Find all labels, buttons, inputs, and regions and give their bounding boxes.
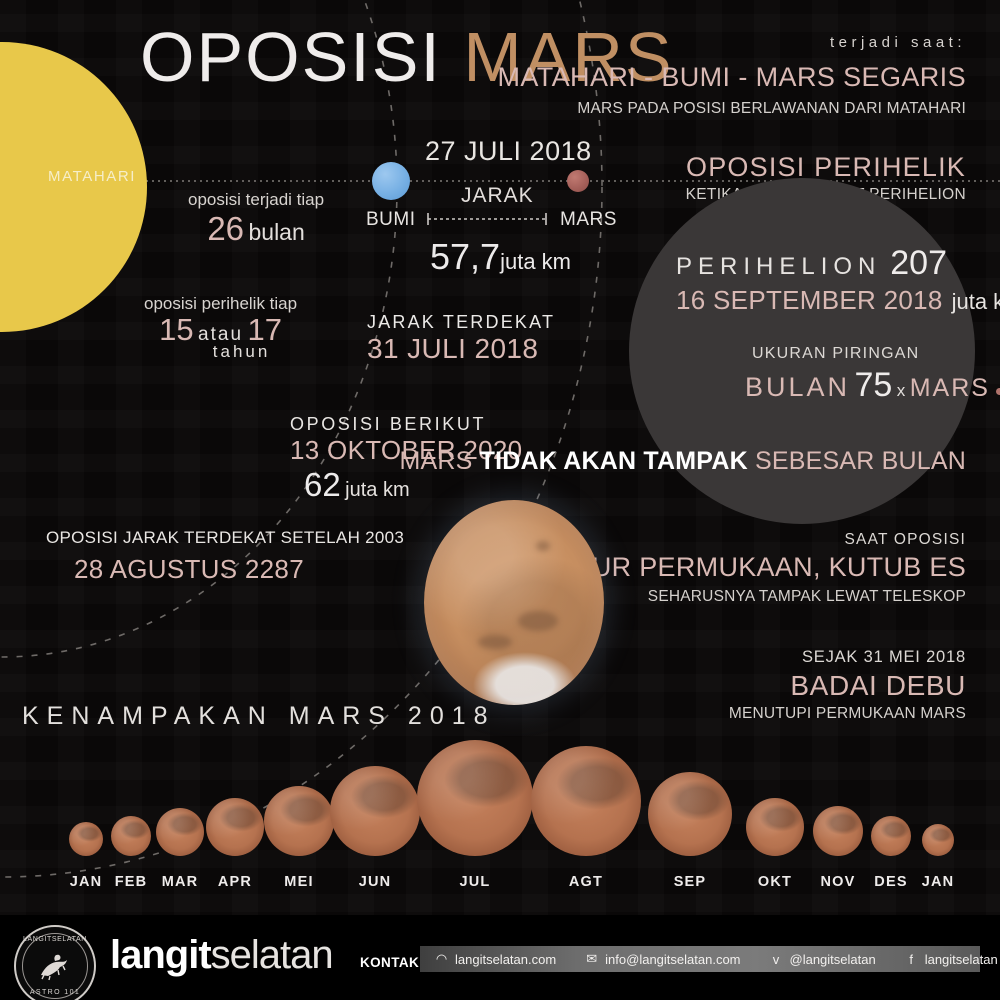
perihelion-label: PERIHELION — [676, 253, 881, 280]
dust-storm-subtext: MENUTUPI PERMUKAAN MARS — [729, 705, 966, 723]
opposition-interval-text: oposisi terjadi tiap — [188, 190, 324, 210]
perihelion-block: PERIHELION 207 16 SEPTEMBER 2018 juta km — [676, 244, 1000, 316]
title-part-oposisi: OPOSISI — [140, 18, 442, 96]
alignment-subtext: MARS PADA POSISI BERLAWANAN DARI MATAHAR… — [577, 100, 966, 118]
disk-size-mars: MARS — [910, 374, 990, 402]
contact-text: info@langitselatan.com — [605, 952, 740, 967]
mars-disk-label: FEB — [115, 874, 148, 890]
next-opposition-heading: OPOSISI BERIKUT — [290, 414, 522, 435]
logo-top-text: LANGITSELATAN — [16, 936, 94, 943]
mars-disk-item: DES — [871, 816, 911, 856]
rss-icon: ◠ — [434, 952, 449, 967]
closest-approach-block: JARAK TERDEKAT 31 JULI 2018 — [367, 312, 555, 365]
not-bigger-pre: MARS — [399, 447, 479, 475]
distance-unit: juta km — [500, 249, 571, 274]
telescope-heading: SAAT OPOSISI — [845, 531, 967, 549]
mars-disk-feb-1 — [111, 816, 151, 856]
telescope-main: FITUR PERMUKAAN, KUTUB ES — [550, 552, 966, 583]
mars-disk-item: NOV — [813, 806, 863, 856]
mars-disk-jan-0 — [69, 822, 103, 856]
envelope-icon: ✉ — [584, 952, 599, 967]
closest-since-date: 28 AGUSTUS 2287 — [46, 554, 404, 585]
infographic-poster: MATAHARI OPOSISI MARS BUMI MARS 27 JULI … — [0, 0, 1000, 1000]
contact-item[interactable]: flangitselatan — [890, 952, 1000, 967]
mars-disk-label: NOV — [820, 874, 855, 890]
opposition-interval-number: 26 — [207, 210, 244, 247]
mars-disk-label: MAR — [162, 874, 199, 890]
mars-disk-des-11 — [871, 816, 911, 856]
mars-disk-label: JUN — [359, 874, 392, 890]
contact-text: @langitselatan — [790, 952, 876, 967]
mini-mars-dot-icon — [996, 388, 1000, 395]
perihelion-value: 207 — [890, 244, 947, 282]
dust-storm-main: BADAI DEBU — [790, 670, 966, 702]
opposition-interval-block: oposisi terjadi tiap 26 bulan — [188, 190, 324, 248]
mars-disk-apr-3 — [206, 798, 264, 856]
mars-disk-item: AGT — [531, 746, 641, 856]
footer-bar: LANGITSELATAN ASTRO 101 langitselatan KO… — [0, 915, 1000, 1000]
disk-size-moon: BULAN — [745, 372, 850, 402]
mars-disk-item: MEI — [264, 786, 334, 856]
brand-part-langit: langit — [110, 933, 211, 977]
logo-bottom-text: ASTRO 101 — [16, 989, 94, 996]
mars-disk-label: AGT — [569, 874, 603, 890]
mars-disk-jan-12 — [922, 824, 954, 856]
earth-label: BUMI — [366, 209, 416, 231]
sun-label: MATAHARI — [48, 168, 136, 185]
mars-disk-sep-8 — [648, 772, 732, 856]
closest-since-heading: OPOSISI JARAK TERDEKAT SETELAH 2003 — [46, 528, 404, 548]
mars-disk-agt-7 — [531, 746, 641, 856]
mars-disk-mei-4 — [264, 786, 334, 856]
closest-approach-heading: JARAK TERDEKAT — [367, 312, 555, 333]
contact-text: langitselatan — [925, 952, 998, 967]
twitter-icon: ᴠ — [769, 952, 784, 967]
disk-size-times: x — [897, 381, 906, 400]
brand-wordmark: langitselatan — [110, 935, 333, 975]
mars-disk-okt-9 — [746, 798, 804, 856]
dust-storm-since: SEJAK 31 MEI 2018 — [802, 648, 966, 667]
facebook-icon: f — [904, 952, 919, 967]
kontak-label: KONTAK: — [360, 955, 424, 970]
mars-disk-label: MEI — [284, 874, 313, 890]
langitselatan-logo: LANGITSELATAN ASTRO 101 — [14, 925, 96, 1000]
next-opposition-value: 62 — [304, 466, 341, 503]
mars-disk-label: JAN — [922, 874, 955, 890]
disk-size-heading: UKURAN PIRINGAN — [752, 345, 919, 363]
mars-disk-item: FEB — [111, 816, 151, 856]
mars-disk-item: JUL — [417, 740, 533, 856]
not-bigger-post: SEBESAR BULAN — [748, 447, 966, 475]
brand-part-selatan: selatan — [211, 933, 333, 977]
mars-disk-jul-6 — [417, 740, 533, 856]
contact-item[interactable]: ✉info@langitselatan.com — [570, 952, 754, 967]
contact-bar: ◠langitselatan.com✉info@langitselatan.co… — [420, 946, 980, 972]
mars-size-timeline: JANFEBMARAPRMEIJUNJULAGTSEPOKTNOVDESJAN — [0, 760, 1000, 900]
next-opposition-unit: juta km — [345, 479, 409, 501]
mars-disk-item: JAN — [922, 824, 954, 856]
perihelic-n1: 15 — [159, 312, 193, 347]
perihelic-interval-text: oposisi perihelik tiap — [144, 294, 297, 314]
mars-disk-item: MAR — [156, 808, 204, 856]
closest-since-2003-block: OPOSISI JARAK TERDEKAT SETELAH 2003 28 A… — [46, 528, 404, 585]
alignment-headline: MATAHARI - BUMI - MARS SEGARIS — [497, 62, 966, 93]
contact-item[interactable]: ◠langitselatan.com — [420, 952, 570, 967]
mars-disk-mar-2 — [156, 808, 204, 856]
mars-label: MARS — [560, 209, 617, 231]
opposition-date: 27 JULI 2018 — [425, 136, 592, 167]
mars-disk-item: APR — [206, 798, 264, 856]
contact-item[interactable]: ᴠ@langitselatan — [755, 952, 890, 967]
disk-size-factor: 75 — [854, 366, 892, 404]
contact-text: langitselatan.com — [455, 952, 556, 967]
mars-disk-label: OKT — [758, 874, 792, 890]
telescope-subtext: SEHARUSNYA TAMPAK LEWAT TELESKOP — [648, 588, 966, 606]
distance-label: JARAK — [461, 184, 534, 208]
mars-disk-item: OKT — [746, 798, 804, 856]
appearance-heading: KENAMPAKAN MARS 2018 — [22, 702, 496, 731]
mars-planet-dot — [567, 170, 589, 192]
mars-disk-label: DES — [874, 874, 907, 890]
disk-size-comparison: BULAN 75 x MARS — [745, 366, 1000, 405]
perihelic-interval-block: oposisi perihelik tiap 15 atau 17 tahun — [144, 294, 297, 362]
distance-number: 57,7 — [430, 236, 500, 277]
earth-planet-dot — [372, 162, 410, 200]
opposition-interval-unit: bulan — [248, 219, 304, 245]
occurs-when-label: terjadi saat: — [830, 34, 966, 51]
mars-disk-label: JUL — [460, 874, 491, 890]
perihelic-opposition-headline: OPOSISI PERIHELIK — [686, 152, 966, 183]
closest-approach-date: 31 JULI 2018 — [367, 333, 555, 365]
distance-value-block: 57,7juta km — [430, 236, 571, 278]
mars-disk-label: APR — [218, 874, 252, 890]
pegasus-rider-icon — [36, 951, 74, 981]
not-bigger-than-moon-headline: MARS TIDAK AKAN TAMPAK SEBESAR BULAN — [399, 447, 966, 476]
mars-hubble-image — [424, 500, 604, 705]
perihelion-date: 16 SEPTEMBER 2018 — [676, 285, 943, 315]
mars-disk-nov-10 — [813, 806, 863, 856]
mars-disk-item: JUN — [330, 766, 420, 856]
not-bigger-strong: TIDAK AKAN TAMPAK — [480, 447, 748, 475]
mars-disk-item: JAN — [69, 822, 103, 856]
mars-disk-item: SEP — [648, 772, 732, 856]
mars-disk-label: SEP — [674, 874, 707, 890]
perihelion-unit: juta km — [952, 289, 1000, 314]
mars-disk-label: JAN — [70, 874, 103, 890]
mars-disk-jun-5 — [330, 766, 420, 856]
